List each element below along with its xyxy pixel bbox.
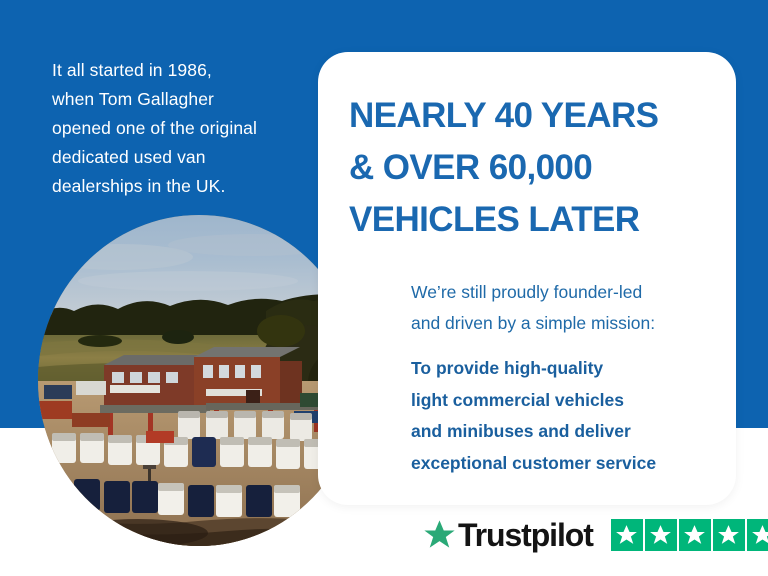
intro-paragraph: It all started in 1986, when Tom Gallagh… [52, 56, 314, 201]
info-card: NEARLY 40 YEARS & OVER 60,000 VEHICLES L… [318, 52, 736, 505]
rating-star [747, 519, 768, 551]
dealership-photo-illustration [38, 215, 360, 546]
rating-star [713, 519, 745, 551]
rating-star [611, 519, 643, 551]
trustpilot-rating[interactable]: Trustpilot [423, 513, 768, 557]
dealership-photo [38, 215, 360, 546]
sub-copy: We’re still proudly founder-led and driv… [411, 277, 721, 339]
trustpilot-star-rating [611, 519, 768, 551]
star-icon [614, 523, 639, 548]
rating-star [645, 519, 677, 551]
promo-banner: It all started in 1986, when Tom Gallagh… [0, 0, 768, 576]
trustpilot-star-icon [423, 519, 456, 552]
mission-statement: To provide high-quality light commercial… [411, 353, 721, 479]
star-icon [716, 523, 741, 548]
star-icon [682, 523, 707, 548]
headline: NEARLY 40 YEARS & OVER 60,000 VEHICLES L… [349, 90, 717, 246]
rating-star [679, 519, 711, 551]
trustpilot-wordmark: Trustpilot [458, 519, 593, 551]
star-icon [750, 523, 768, 548]
star-icon [648, 523, 673, 548]
trustpilot-logo[interactable]: Trustpilot [423, 519, 593, 552]
